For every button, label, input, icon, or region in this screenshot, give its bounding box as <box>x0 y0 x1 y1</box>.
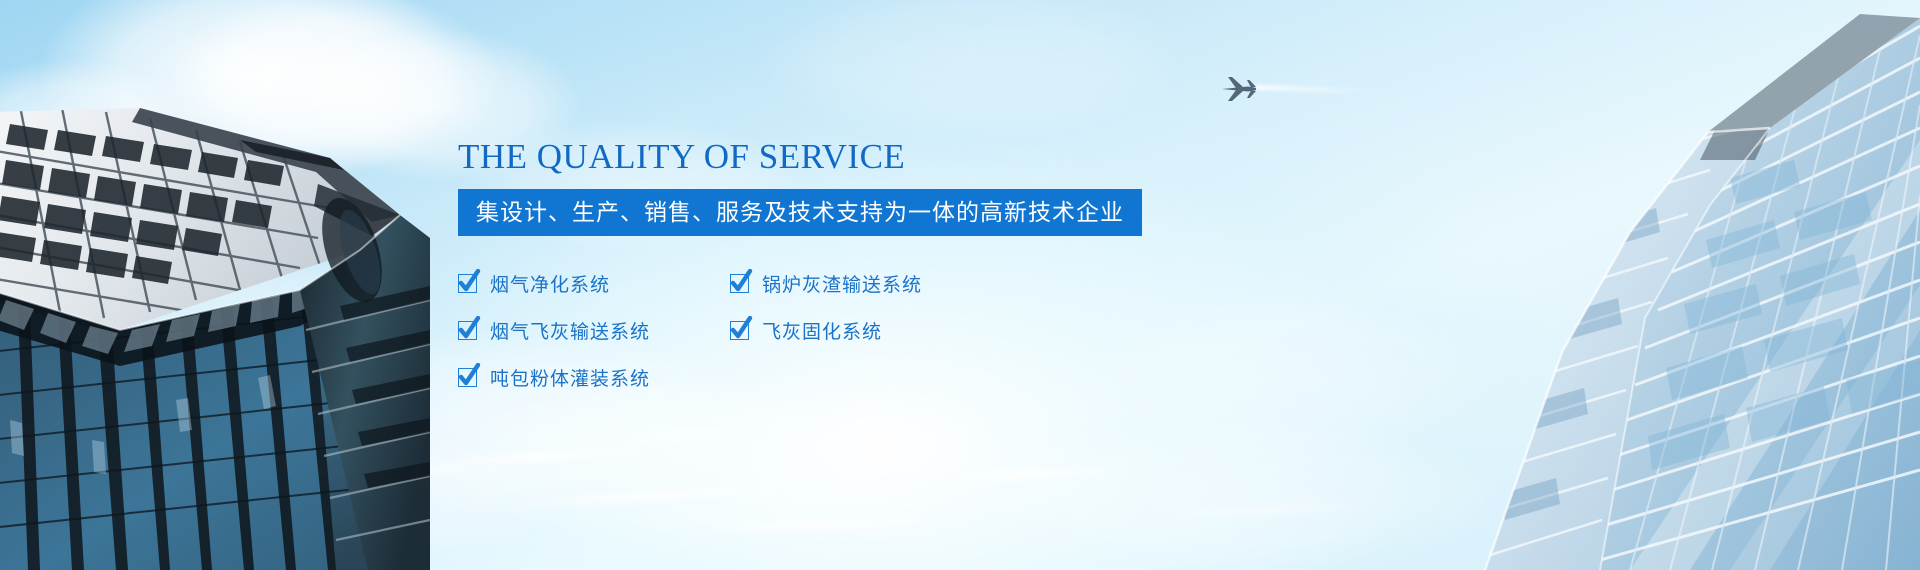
checkbox-checked-icon <box>458 368 477 387</box>
feature-item[interactable]: 吨包粉体灌装系统 <box>458 364 730 391</box>
feature-list: 烟气净化系统 锅炉灰渣输送系统 烟气飞灰输送系统 <box>458 270 1178 391</box>
feature-label: 烟气净化系统 <box>490 270 610 297</box>
tagline-bar: 集设计、生产、销售、服务及技术支持为一体的高新技术企业 <box>458 189 1142 237</box>
checkbox-checked-icon <box>730 274 749 293</box>
feature-label: 烟气飞灰输送系统 <box>490 317 650 344</box>
feature-label: 吨包粉体灌装系统 <box>490 364 650 391</box>
cloud-wisp <box>500 484 800 509</box>
feature-label: 锅炉灰渣输送系统 <box>762 270 922 297</box>
feature-item[interactable]: 烟气飞灰输送系统 <box>458 317 730 344</box>
left-building <box>0 0 430 570</box>
feature-item[interactable]: 飞灰固化系统 <box>730 317 1002 344</box>
banner-content: THE QUALITY OF SERVICE 集设计、生产、销售、服务及技术支持… <box>458 138 1218 391</box>
airplane-icon <box>1218 74 1262 104</box>
checkbox-checked-icon <box>458 274 477 293</box>
feature-item[interactable]: 烟气净化系统 <box>458 270 730 297</box>
feature-label: 飞灰固化系统 <box>762 317 882 344</box>
cloud-wisp <box>600 422 780 447</box>
checkbox-checked-icon <box>458 321 477 340</box>
cloud-puff <box>430 380 1030 550</box>
feature-item[interactable]: 锅炉灰渣输送系统 <box>730 270 1002 297</box>
cloud-wisp <box>700 515 960 533</box>
cloud-wisp <box>430 444 660 469</box>
cloud-wisp <box>920 466 1140 483</box>
hero-banner: THE QUALITY OF SERVICE 集设计、生产、销售、服务及技术支持… <box>0 0 1920 570</box>
checkbox-checked-icon <box>730 321 749 340</box>
cloud-puff <box>760 0 1180 140</box>
right-building <box>1300 0 1920 570</box>
english-title: THE QUALITY OF SERVICE <box>458 138 1218 177</box>
